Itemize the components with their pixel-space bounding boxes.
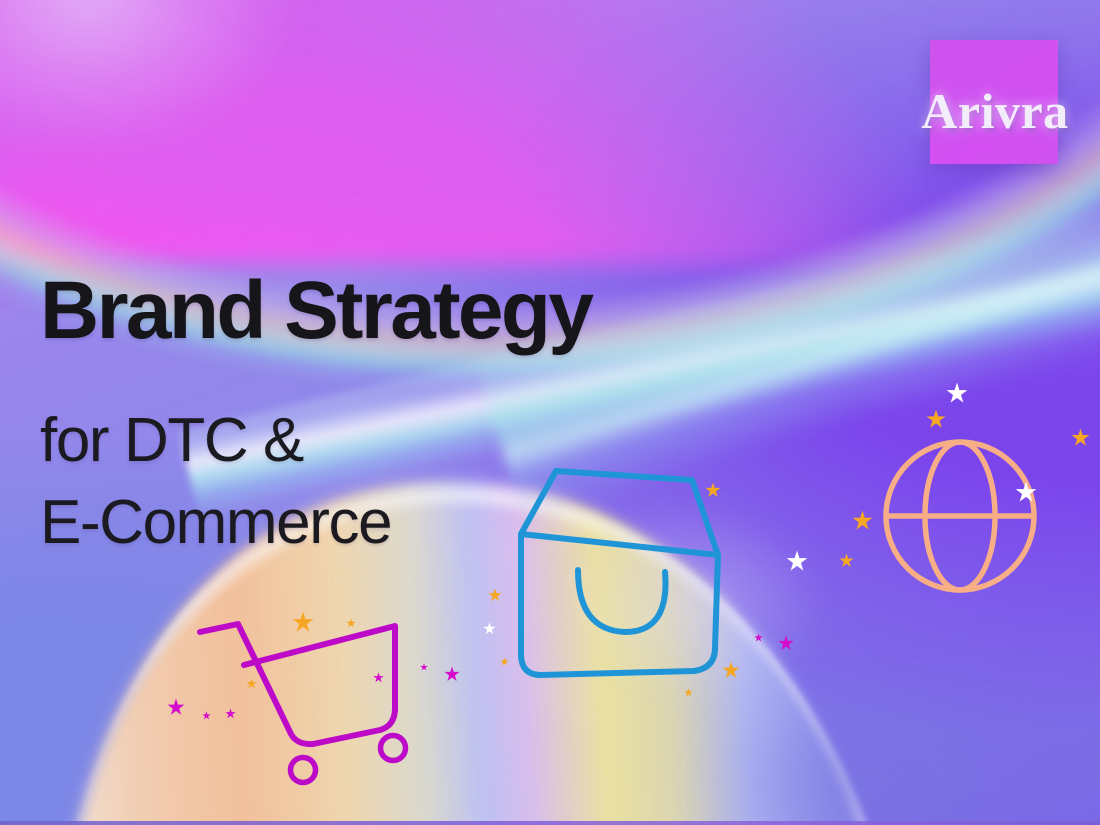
logo-wordmark: Arivra bbox=[900, 82, 1090, 140]
page-subtitle-line-1: for DTC & bbox=[40, 400, 391, 482]
brand-logo[interactable]: Arivra bbox=[900, 30, 1090, 180]
page-title: Brand Strategy bbox=[40, 270, 591, 352]
background-lower-right-glow bbox=[638, 644, 1100, 825]
slide-bottom-edge bbox=[0, 821, 1100, 825]
slide-canvas: Brand Strategy for DTC & E-Commerce Ariv… bbox=[0, 0, 1100, 825]
page-subtitle: for DTC & E-Commerce bbox=[40, 400, 391, 564]
page-subtitle-line-2: E-Commerce bbox=[40, 482, 391, 564]
